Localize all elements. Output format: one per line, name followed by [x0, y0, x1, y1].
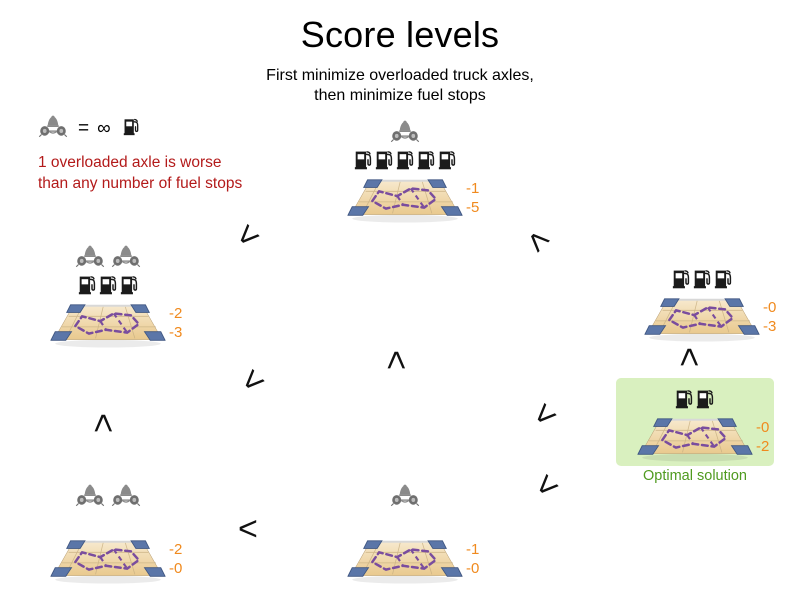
axle-icon-row: [390, 118, 420, 148]
fuel-pump-icon: [693, 266, 712, 294]
solution-node-two-axles-three-stops[interactable]: -2 -3: [28, 243, 188, 348]
comparison-operator: <: [528, 467, 566, 505]
comparison-operator: <: [379, 350, 413, 370]
hard-score: -1: [466, 179, 479, 198]
route-map[interactable]: -0 -2: [636, 414, 754, 462]
equals-sign: =: [78, 119, 89, 138]
overloaded-axle-icon: [75, 483, 105, 512]
hard-score: -2: [169, 304, 182, 323]
comparison-operator: <: [234, 362, 272, 400]
hard-score: -2: [169, 540, 182, 559]
comparison-operator: <: [238, 512, 258, 546]
fuel-pump-icon: [99, 272, 118, 300]
legend-equation: = ∞: [38, 113, 338, 143]
infinity-symbol: ∞: [97, 119, 111, 138]
fuel-pump-icon: [396, 147, 415, 175]
fuel-icon-row: [354, 149, 457, 175]
fuel-icon-row: [78, 274, 139, 300]
legend: = ∞ 1 overloaded axle is worse than any …: [38, 113, 338, 194]
soft-score: -5: [466, 198, 479, 217]
score-display: -0 -3: [763, 298, 776, 336]
hard-score: -0: [756, 418, 769, 437]
soft-score: -2: [756, 437, 769, 456]
optimal-solution-label: Optimal solution: [616, 468, 774, 484]
fuel-pump-icon: [123, 115, 140, 141]
solution-node-one-axle-zero-stops[interactable]: -1 -0: [325, 482, 485, 584]
legend-note-line-2: than any number of fuel stops: [38, 173, 338, 194]
overloaded-axle-icon: [111, 483, 141, 512]
score-display: -2 -3: [169, 304, 182, 342]
subtitle-line-2: then minimize fuel stops: [0, 86, 800, 106]
overloaded-axle-icon: [111, 244, 141, 273]
score-display: -1 -0: [466, 540, 479, 578]
route-map[interactable]: -1 -5: [346, 175, 464, 223]
overloaded-axle-icon: [390, 119, 420, 148]
comparison-operator: <: [526, 396, 564, 434]
solution-node-worst[interactable]: -1 -5: [325, 118, 485, 223]
fuel-pump-icon: [696, 386, 715, 414]
solution-node-zero-axles-three-stops[interactable]: -0 -3: [622, 268, 782, 342]
soft-score: -0: [169, 559, 182, 578]
soft-score: -3: [763, 317, 776, 336]
fuel-pump-icon: [672, 266, 691, 294]
fuel-icon-row: [672, 268, 733, 294]
soft-score: -3: [169, 323, 182, 342]
subtitle-line-1: First minimize overloaded truck axles,: [0, 66, 800, 86]
axle-icon-row: [75, 243, 141, 273]
diagram-canvas: Score levels First minimize overloaded t…: [0, 0, 800, 600]
route-map[interactable]: -2 -3: [49, 300, 167, 348]
route-map[interactable]: -0 -3: [643, 294, 761, 342]
comparison-operator: <: [86, 413, 120, 433]
axle-icon-row: [390, 482, 420, 512]
fuel-pump-icon: [417, 147, 436, 175]
score-display: -2 -0: [169, 540, 182, 578]
comparison-operator: <: [672, 347, 706, 367]
comparison-operator: <: [229, 217, 267, 255]
page-title: Score levels: [0, 14, 800, 56]
solution-node-two-axles-zero-stops[interactable]: -2 -0: [28, 482, 188, 584]
fuel-pump-icon: [438, 147, 457, 175]
route-map[interactable]: -1 -0: [346, 536, 464, 584]
fuel-pump-icon: [78, 272, 97, 300]
soft-score: -0: [466, 559, 479, 578]
axle-icon-row: [75, 482, 141, 512]
overloaded-axle-icon: [390, 483, 420, 512]
fuel-pump-icon: [675, 386, 694, 414]
hard-score: -0: [763, 298, 776, 317]
comparison-operator: <: [519, 222, 557, 260]
solution-node-optimal[interactable]: -0 -2: [615, 388, 775, 462]
hard-score: -1: [466, 540, 479, 559]
legend-note-line-1: 1 overloaded axle is worse: [38, 152, 338, 173]
score-display: -0 -2: [756, 418, 769, 456]
fuel-pump-icon: [354, 147, 373, 175]
score-display: -1 -5: [466, 179, 479, 217]
legend-note: 1 overloaded axle is worse than any numb…: [38, 152, 338, 194]
fuel-pump-icon: [714, 266, 733, 294]
fuel-pump-icon: [120, 272, 139, 300]
overloaded-axle-icon: [75, 244, 105, 273]
page-subtitle: First minimize overloaded truck axles, t…: [0, 66, 800, 106]
overloaded-axle-icon: [38, 114, 68, 143]
route-map[interactable]: -2 -0: [49, 536, 167, 584]
fuel-pump-icon: [375, 147, 394, 175]
fuel-icon-row: [675, 388, 715, 414]
